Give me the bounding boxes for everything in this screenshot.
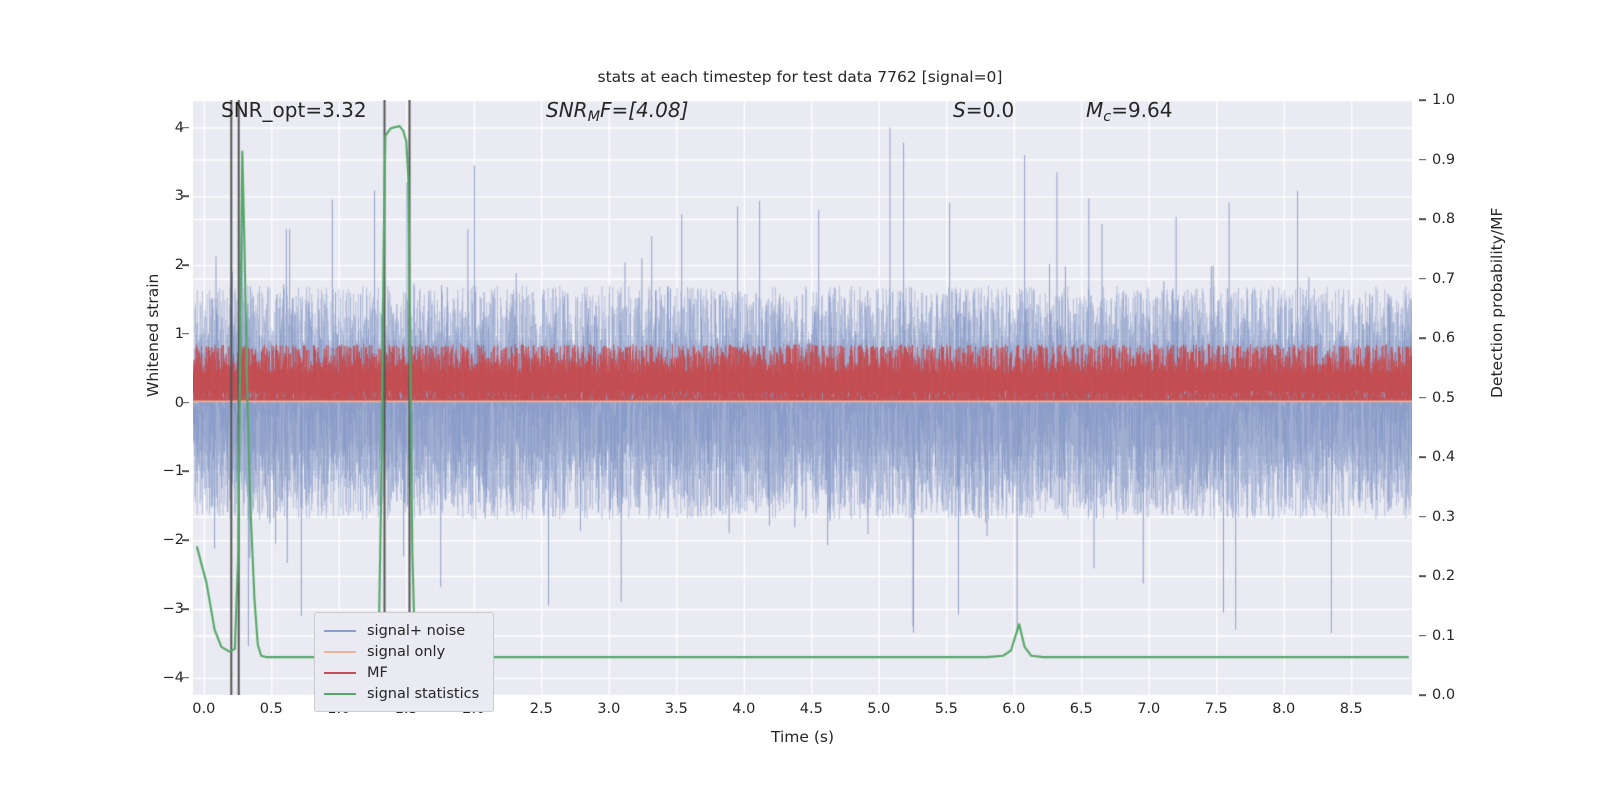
y-tick-mark-left-2	[182, 264, 189, 266]
legend-item-1[interactable]: signal only	[324, 641, 484, 662]
y-tick-mark-right-1	[1419, 159, 1426, 161]
y-tick-mark-left-5	[182, 471, 189, 473]
y-tick-right-3: 0.7	[1432, 271, 1455, 287]
legend-label: signal statistics	[367, 686, 479, 702]
x-tick-12: 6.0	[1002, 701, 1025, 717]
y-tick-right-10: 0.0	[1432, 687, 1455, 703]
y-tick-right-0: 1.0	[1432, 92, 1455, 108]
legend-item-0[interactable]: signal+ noise	[324, 620, 484, 641]
y-tick-mark-left-1	[182, 196, 189, 198]
y-tick-mark-right-8	[1419, 575, 1426, 577]
legend-swatch-icon	[324, 693, 356, 695]
y-axis-right-label: Detection probability/MF	[1488, 208, 1506, 398]
x-tick-8: 4.0	[732, 701, 755, 717]
x-tick-0: 0.0	[192, 701, 215, 717]
y-tick-right-7: 0.3	[1432, 509, 1455, 525]
y-tick-right-6: 0.4	[1432, 449, 1455, 465]
x-tick-15: 7.5	[1205, 701, 1228, 717]
chart-canvas	[193, 100, 1412, 695]
y-tick-mark-right-2	[1419, 218, 1426, 220]
legend-label: signal only	[367, 644, 445, 660]
y-tick-left-5: −1	[163, 463, 184, 479]
x-tick-5: 2.5	[530, 701, 553, 717]
plot-area	[193, 100, 1412, 695]
y-tick-right-9: 0.1	[1432, 628, 1455, 644]
y-tick-mark-right-3	[1419, 278, 1426, 280]
chart-title-text: stats at each timestep for test data 776…	[598, 68, 1003, 86]
chart-legend[interactable]: signal+ noisesignal onlyMFsignal statist…	[314, 612, 494, 712]
y-tick-mark-right-5	[1419, 397, 1426, 399]
x-axis-label: Time (s)	[193, 728, 1412, 746]
y-tick-mark-left-7	[182, 608, 189, 610]
annotation-mc-value: Mc=9.64	[1086, 98, 1172, 125]
y-tick-mark-right-6	[1419, 456, 1426, 458]
y-tick-mark-right-4	[1419, 337, 1426, 339]
legend-swatch-icon	[324, 651, 356, 653]
annotation-s-value: S=0.0	[953, 98, 1014, 122]
y-tick-mark-left-0	[182, 127, 189, 129]
legend-item-2[interactable]: MF	[324, 662, 484, 683]
y-tick-right-2: 0.8	[1432, 211, 1455, 227]
y-tick-left-6: −2	[163, 532, 184, 548]
y-tick-mark-left-4	[182, 402, 189, 404]
legend-label: MF	[367, 665, 388, 681]
x-tick-11: 5.5	[935, 701, 958, 717]
y-tick-mark-right-0	[1419, 99, 1426, 101]
annotation-snr-mf: SNRMF=[4.08]	[546, 98, 688, 125]
x-tick-17: 8.5	[1340, 701, 1363, 717]
y-tick-mark-right-7	[1419, 516, 1426, 518]
annotation-snr-opt: SNR_opt=3.32	[221, 98, 367, 122]
y-tick-mark-left-8	[182, 677, 189, 679]
y-tick-mark-left-3	[182, 333, 189, 335]
y-tick-mark-left-6	[182, 539, 189, 541]
legend-swatch-icon	[324, 630, 356, 632]
legend-label: signal+ noise	[367, 623, 465, 639]
y-tick-left-8: −4	[163, 670, 184, 686]
legend-item-3[interactable]: signal statistics	[324, 683, 484, 704]
y-tick-right-4: 0.6	[1432, 330, 1455, 346]
y-tick-right-5: 0.5	[1432, 390, 1455, 406]
x-tick-10: 5.0	[867, 701, 890, 717]
matplotlib-figure: stats at each timestep for test data 776…	[0, 0, 1600, 800]
y-tick-left-7: −3	[163, 601, 184, 617]
y-tick-mark-right-9	[1419, 635, 1426, 637]
legend-swatch-icon	[324, 672, 356, 674]
x-tick-1: 0.5	[260, 701, 283, 717]
x-tick-13: 6.5	[1070, 701, 1093, 717]
page-title: stats at each timestep for test data 776…	[0, 68, 1600, 86]
x-tick-14: 7.0	[1137, 701, 1160, 717]
x-tick-7: 3.5	[665, 701, 688, 717]
x-tick-6: 3.0	[597, 701, 620, 717]
x-tick-16: 8.0	[1272, 701, 1295, 717]
y-tick-right-8: 0.2	[1432, 568, 1455, 584]
x-tick-9: 4.5	[800, 701, 823, 717]
y-tick-right-1: 0.9	[1432, 152, 1455, 168]
y-tick-mark-right-10	[1419, 694, 1426, 696]
y-axis-left-label: Whitened strain	[144, 274, 162, 397]
